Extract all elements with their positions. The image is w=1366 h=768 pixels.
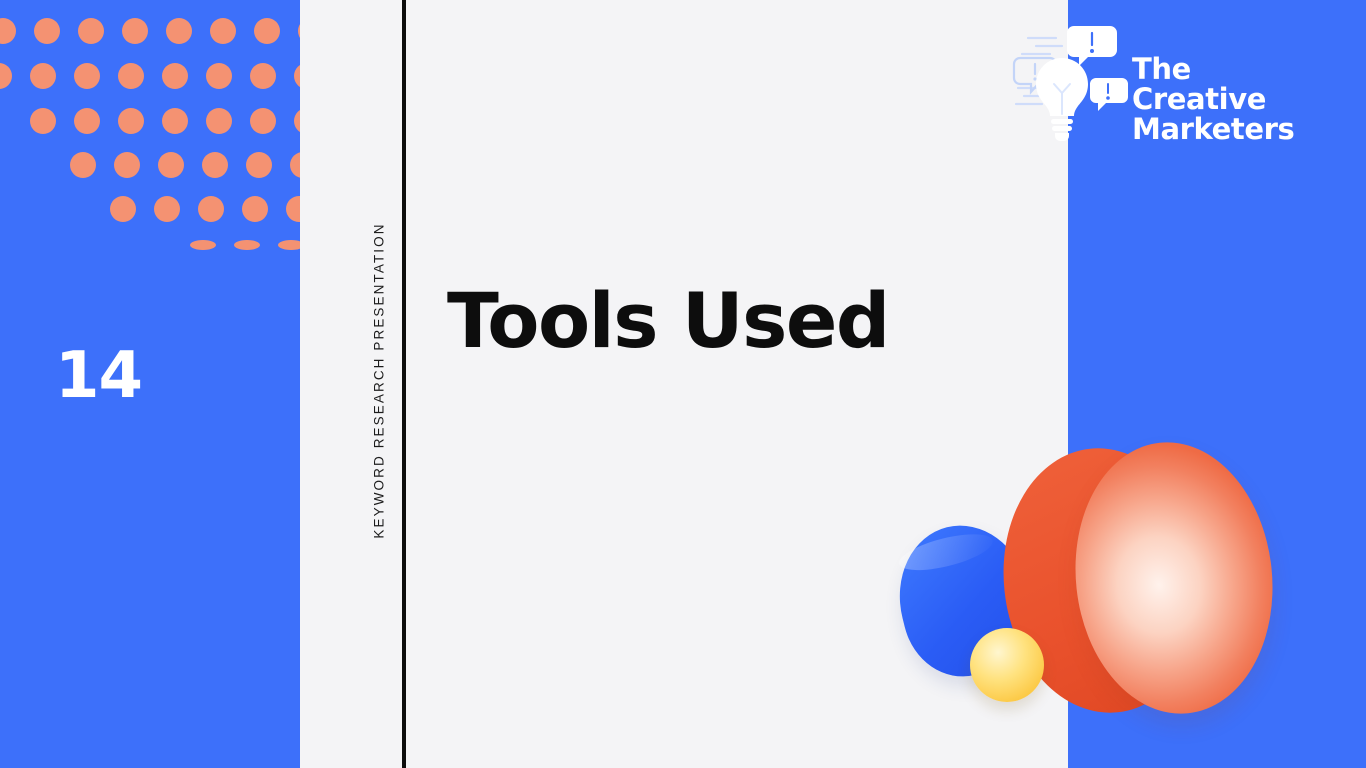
- page-number: 14: [55, 344, 142, 408]
- brand-logo-line1: The Creative: [1132, 52, 1266, 116]
- brand-logo-line2: Marketers: [1132, 114, 1312, 144]
- brand-logo-text: The Creative Marketers: [1132, 54, 1312, 144]
- content-panel: [300, 0, 1068, 768]
- page-title: Tools Used: [447, 283, 889, 359]
- vertical-section-label-text: KEYWORD RESEARCH PRESENTATION: [372, 222, 387, 538]
- vertical-divider-rule: [402, 0, 406, 768]
- vertical-section-label: KEYWORD RESEARCH PRESENTATION: [369, 205, 389, 555]
- left-blue-panel: [0, 0, 300, 768]
- presentation-slide: 14 KEYWORD RESEARCH PRESENTATION Tools U…: [0, 0, 1366, 768]
- brand-logo: The Creative Marketers: [1012, 22, 1302, 142]
- lightbulb-speech-bubble-icon: [1012, 22, 1132, 142]
